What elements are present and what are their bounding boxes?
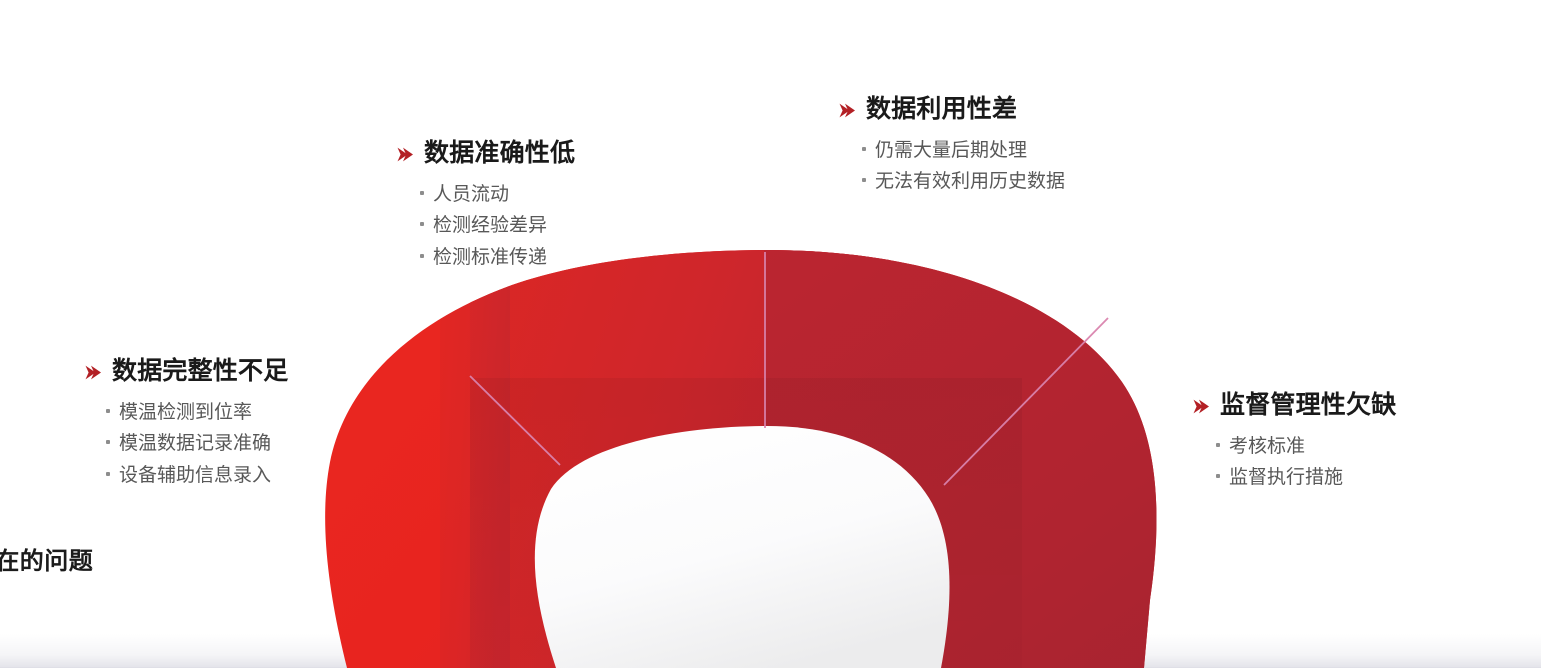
list-item-label: 设备辅助信息录入 bbox=[119, 460, 271, 492]
list-item[interactable]: 无法有效利用历史数据 bbox=[862, 166, 1065, 198]
callout-supervision-title: 监督管理性欠缺 bbox=[1220, 392, 1396, 420]
bullet-icon bbox=[420, 254, 424, 258]
bullet-icon bbox=[862, 178, 866, 182]
list-item[interactable]: 模温检测到位率 bbox=[106, 397, 288, 429]
bullet-icon bbox=[862, 147, 866, 151]
callout-accuracy-title: 数据准确性低 bbox=[424, 140, 575, 168]
callout-supervision[interactable]: 监督管理性欠缺 考核标准 监督执行措施 bbox=[1192, 392, 1396, 494]
list-item[interactable]: 检测经验差异 bbox=[420, 210, 575, 242]
list-item-label: 无法有效利用历史数据 bbox=[875, 166, 1065, 198]
callout-integrity-title: 数据完整性不足 bbox=[112, 358, 288, 386]
chevron-right-icon bbox=[1192, 397, 1211, 416]
bullet-icon bbox=[1216, 443, 1220, 447]
callout-supervision-header: 监督管理性欠缺 bbox=[1192, 392, 1396, 420]
central-blob-graphic bbox=[0, 0, 1541, 668]
list-item-label: 仍需大量后期处理 bbox=[875, 135, 1027, 167]
chevron-right-icon bbox=[396, 145, 415, 164]
list-item-label: 检测经验差异 bbox=[433, 210, 547, 242]
list-item-label: 考核标准 bbox=[1229, 431, 1305, 463]
diagram-canvas: 数据准确性低 人员流动 检测经验差异 检测标准传递 bbox=[0, 0, 1541, 668]
chevron-right-icon bbox=[84, 363, 103, 382]
bullet-icon bbox=[1216, 474, 1220, 478]
list-item-label: 监督执行措施 bbox=[1229, 462, 1343, 494]
list-item[interactable]: 人员流动 bbox=[420, 179, 575, 211]
callout-accuracy-header: 数据准确性低 bbox=[396, 140, 575, 168]
callout-integrity-header: 数据完整性不足 bbox=[84, 358, 288, 386]
callout-integrity[interactable]: 数据完整性不足 模温检测到位率 模温数据记录准确 设备辅助信息录入 bbox=[84, 358, 288, 492]
inner-white-shape bbox=[535, 426, 950, 668]
list-item[interactable]: 模温数据记录准确 bbox=[106, 428, 288, 460]
bullet-icon bbox=[106, 472, 110, 476]
callout-integrity-list: 模温检测到位率 模温数据记录准确 设备辅助信息录入 bbox=[106, 397, 288, 493]
callout-usability-list: 仍需大量后期处理 无法有效利用历史数据 bbox=[862, 135, 1065, 199]
callout-accuracy-list: 人员流动 检测经验差异 检测标准传递 bbox=[420, 179, 575, 275]
list-item-label: 检测标准传递 bbox=[433, 242, 547, 274]
bullet-icon bbox=[106, 409, 110, 413]
list-item-label: 模温检测到位率 bbox=[119, 397, 252, 429]
bullet-icon bbox=[420, 191, 424, 195]
list-item[interactable]: 检测标准传递 bbox=[420, 242, 575, 274]
list-item[interactable]: 监督执行措施 bbox=[1216, 462, 1396, 494]
list-item[interactable]: 仍需大量后期处理 bbox=[862, 135, 1065, 167]
callout-usability-header: 数据利用性差 bbox=[838, 96, 1065, 124]
callout-usability[interactable]: 数据利用性差 仍需大量后期处理 无法有效利用历史数据 bbox=[838, 96, 1065, 198]
bullet-icon bbox=[106, 440, 110, 444]
bullet-icon bbox=[420, 222, 424, 226]
callout-supervision-list: 考核标准 监督执行措施 bbox=[1216, 431, 1396, 495]
callout-usability-title: 数据利用性差 bbox=[866, 96, 1017, 124]
list-item[interactable]: 设备辅助信息录入 bbox=[106, 460, 288, 492]
list-item-label: 模温数据记录准确 bbox=[119, 428, 271, 460]
list-item[interactable]: 考核标准 bbox=[1216, 431, 1396, 463]
list-item-label: 人员流动 bbox=[433, 179, 509, 211]
chevron-right-icon bbox=[838, 101, 857, 120]
callout-accuracy[interactable]: 数据准确性低 人员流动 检测经验差异 检测标准传递 bbox=[396, 140, 575, 274]
